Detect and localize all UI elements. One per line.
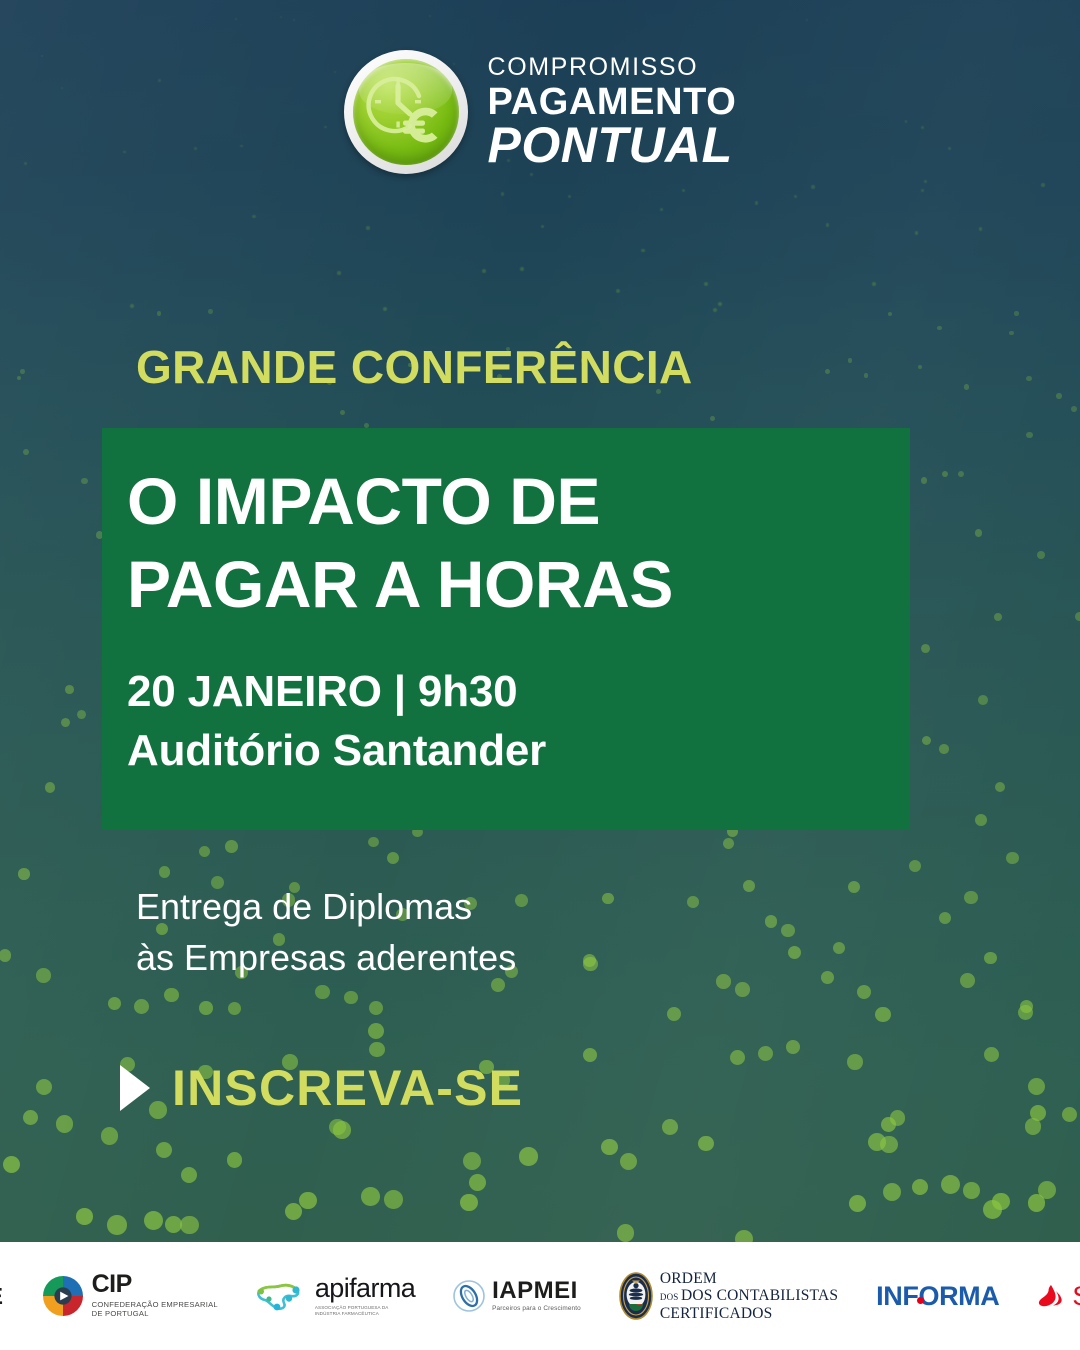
decorative-dot	[1062, 1107, 1077, 1122]
decorative-dot	[77, 710, 86, 719]
decorative-dot	[915, 231, 919, 235]
decorative-dot	[872, 282, 876, 286]
decorative-dot	[36, 968, 51, 983]
decorative-dot	[794, 195, 797, 198]
event-date-time: 20 JANEIRO | 9h30	[127, 665, 517, 719]
decorative-dot	[921, 644, 930, 653]
partner-logo-bar: ACEGE CIP CONFEDERAÇÃO EMPRESARIAL DE PO…	[0, 1242, 1080, 1350]
decorative-dot	[660, 208, 664, 212]
informa-dot-icon	[917, 1297, 924, 1304]
decorative-dot	[826, 223, 830, 227]
decorative-dot	[515, 894, 528, 907]
brand-lockup: COMPROMISSO PAGAMENTO PONTUAL	[0, 50, 1080, 174]
decorative-dot	[939, 744, 949, 754]
brand-line-compromisso: COMPROMISSO	[488, 55, 737, 80]
decorative-dot	[17, 376, 22, 381]
decorative-dot	[620, 1153, 637, 1170]
decorative-dot	[20, 369, 25, 374]
decorative-dot	[833, 942, 845, 954]
decorative-dot	[583, 1048, 597, 1062]
decorative-dot	[921, 189, 924, 192]
decorative-dot	[667, 1007, 681, 1021]
register-cta[interactable]: INSCREVA-SE	[120, 1063, 523, 1113]
decorative-dot	[716, 974, 731, 989]
decorative-dot	[56, 1115, 73, 1132]
decorative-dot	[941, 1175, 960, 1194]
decorative-dot	[299, 1192, 317, 1210]
decorative-dot	[101, 1127, 119, 1145]
partner-occ-line2-text: DOS CONTABILISTAS	[681, 1287, 838, 1304]
register-cta-label: INSCREVA-SE	[172, 1063, 523, 1113]
decorative-dot	[922, 736, 931, 745]
decorative-dot	[698, 1136, 713, 1151]
decorative-dot	[293, 19, 295, 21]
decorative-dot	[788, 946, 801, 959]
event-panel: O IMPACTO DE PAGAR A HORAS 20 JANEIRO | …	[102, 428, 910, 830]
decorative-dot	[285, 1203, 302, 1220]
decorative-dot	[730, 1050, 745, 1065]
decorative-dot	[924, 180, 927, 183]
decorative-dot	[918, 365, 923, 370]
decorative-dot	[1028, 1078, 1045, 1095]
decorative-dot	[366, 226, 369, 229]
partner-occ-line1: ORDEM	[660, 1270, 838, 1288]
decorative-dot	[687, 896, 699, 908]
decorative-dot	[942, 471, 948, 477]
decorative-dot	[710, 416, 715, 421]
decorative-dot	[1056, 393, 1062, 399]
decorative-dot	[921, 477, 927, 483]
decorative-dot	[1018, 1005, 1033, 1020]
decorative-dot	[1037, 551, 1045, 559]
decorative-dot	[1009, 331, 1013, 335]
decorative-dot	[45, 782, 56, 793]
partner-iapmei[interactable]: IAPMEI Parceiros para o Crescimento	[453, 1279, 581, 1312]
badge-face	[353, 59, 459, 165]
brand-line-pontual: PONTUAL	[488, 120, 737, 171]
decorative-dot	[157, 311, 161, 315]
decorative-dot	[23, 1110, 38, 1125]
decorative-dot	[723, 838, 734, 849]
decorative-dot	[429, 15, 431, 17]
partner-occ-name: ORDEM	[660, 1270, 717, 1287]
decorative-dot	[469, 1174, 486, 1191]
decorative-dot	[344, 991, 357, 1004]
decorative-dot	[939, 912, 951, 924]
decorative-dot	[963, 1182, 980, 1199]
partner-cip[interactable]: CIP CONFEDERAÇÃO EMPRESARIAL DE PORTUGAL	[41, 1273, 218, 1319]
decorative-dot	[369, 1001, 383, 1015]
decorative-dot	[848, 881, 860, 893]
decorative-dot	[568, 195, 571, 198]
decorative-dot	[1041, 183, 1044, 186]
decorative-dot	[76, 1208, 93, 1225]
decorative-dot	[883, 1183, 901, 1201]
decorative-dot	[743, 880, 755, 892]
decorative-dot	[713, 308, 717, 312]
decorative-dot	[23, 449, 29, 455]
play-triangle-icon	[120, 1065, 150, 1111]
decorative-dot	[975, 814, 987, 826]
cip-swirl-icon	[41, 1274, 85, 1318]
santander-flame-icon	[1037, 1283, 1065, 1309]
decorative-dot	[602, 893, 613, 904]
decorative-dot	[1038, 1181, 1056, 1199]
decorative-dot	[130, 304, 134, 308]
partner-apifarma-name: apifarma	[315, 1275, 415, 1302]
decorative-dot	[208, 309, 212, 313]
partner-occ-line3-text: CERTIFICADOS	[660, 1305, 773, 1322]
decorative-dot	[383, 307, 388, 312]
decorative-dot	[520, 267, 524, 271]
decorative-dot	[519, 1147, 537, 1165]
decorative-dot	[958, 471, 965, 478]
decorative-dot	[1006, 852, 1019, 865]
decorative-dot	[387, 852, 399, 864]
decorative-dot	[1030, 1105, 1046, 1121]
decorative-dot	[1026, 376, 1031, 381]
decorative-dot	[786, 1040, 800, 1054]
decorative-dot	[235, 18, 237, 20]
decorative-dot	[368, 1023, 384, 1039]
partner-santander-name: Santander	[1072, 1283, 1080, 1310]
decorative-dot	[641, 249, 645, 253]
decorative-dot	[978, 695, 988, 705]
partner-occ-line3: CERTIFICADOS	[660, 1305, 838, 1323]
decorative-dot	[735, 1230, 753, 1242]
decorative-dot	[909, 860, 921, 872]
decorative-dot	[849, 1195, 866, 1212]
decorative-dot	[1026, 432, 1032, 438]
decorative-dot	[1014, 311, 1018, 315]
apifarma-molecule-icon	[256, 1280, 308, 1312]
decorative-dot	[983, 1200, 1002, 1219]
brand-badge	[344, 50, 468, 174]
decorative-dot	[368, 837, 378, 847]
partner-informa-text: INFORMA	[876, 1281, 999, 1311]
decorative-dot	[541, 225, 544, 228]
partner-acege-name: ACEGE	[0, 1285, 3, 1308]
partner-iapmei-subtitle: Parceiros para o Crescimento	[492, 1306, 581, 1312]
decorative-dot	[482, 269, 486, 273]
partner-santander[interactable]: Santander	[1037, 1283, 1080, 1310]
clock-euro-icon	[353, 59, 459, 165]
decorative-dot	[617, 1224, 634, 1241]
decorative-dot	[857, 985, 871, 999]
decorative-dot	[601, 1139, 617, 1155]
decorative-dot	[758, 1046, 774, 1062]
decorative-dot	[460, 1194, 477, 1211]
decorative-dot	[848, 358, 853, 363]
decorative-dot	[199, 846, 210, 857]
decorative-dot	[765, 915, 777, 927]
decorative-dot	[61, 718, 70, 727]
poster: COMPROMISSO PAGAMENTO PONTUAL GRANDE CON…	[0, 0, 1080, 1350]
decorative-dot	[888, 312, 893, 317]
decorative-dot	[881, 1117, 896, 1132]
decorative-dot	[165, 1216, 182, 1233]
decorative-dot	[781, 924, 794, 937]
decorative-dot	[616, 289, 620, 293]
decorative-dot	[984, 952, 997, 965]
decorative-dot	[252, 215, 256, 219]
event-title: O IMPACTO DE PAGAR A HORAS	[127, 460, 673, 626]
decorative-dot	[735, 982, 750, 997]
decorative-dot	[36, 1079, 52, 1095]
decorative-dot	[880, 1136, 898, 1154]
decorative-dot	[912, 1179, 929, 1196]
partner-cip-subtitle: CONFEDERAÇÃO EMPRESARIAL DE PORTUGAL	[92, 1300, 218, 1320]
decorative-dot	[1071, 406, 1077, 412]
decorative-dot	[81, 478, 88, 485]
decorative-dot	[463, 1152, 481, 1170]
decorative-dot	[3, 1156, 20, 1173]
decorative-dot	[718, 302, 722, 306]
decorative-dot	[228, 1002, 241, 1015]
decorative-dot	[18, 868, 29, 879]
brand-wordmark: COMPROMISSO PAGAMENTO PONTUAL	[488, 53, 737, 172]
decorative-dot	[144, 1211, 164, 1231]
decorative-dot	[984, 1047, 999, 1062]
decorative-dot	[180, 1216, 198, 1234]
decorative-dot	[960, 973, 975, 988]
partner-iapmei-name: IAPMEI	[492, 1279, 581, 1303]
decorative-dot	[995, 782, 1005, 792]
decorative-dot	[937, 326, 941, 330]
decorative-dot	[583, 954, 596, 967]
decorative-dot	[821, 971, 834, 984]
decorative-dot	[811, 185, 814, 188]
event-eyebrow: GRANDE CONFERÊNCIA	[136, 344, 693, 390]
decorative-dot	[65, 685, 74, 694]
event-subtext: Entrega de Diplomas às Empresas aderente…	[136, 881, 516, 983]
decorative-dot	[164, 988, 178, 1002]
decorative-dot	[337, 271, 341, 275]
partner-informa[interactable]: INFORMA	[876, 1283, 999, 1310]
decorative-dot	[315, 985, 329, 999]
decorative-dot	[361, 1187, 380, 1206]
decorative-dot	[384, 1190, 403, 1209]
decorative-dot	[704, 282, 708, 286]
decorative-dot	[964, 891, 977, 904]
decorative-dot	[1075, 612, 1080, 621]
decorative-dot	[159, 866, 171, 878]
decorative-dot	[806, 19, 808, 21]
decorative-dot	[225, 840, 238, 853]
partner-apifarma-subtitle: ASSOCIAÇÃO PORTUGUESA DA INDÚSTRIA FARMA…	[315, 1305, 415, 1317]
decorative-dot	[964, 384, 969, 389]
decorative-dot	[369, 1042, 385, 1058]
decorative-dot	[979, 227, 983, 231]
partner-acege[interactable]: ACEGE	[0, 1283, 3, 1309]
decorative-dot	[875, 1007, 891, 1023]
decorative-dot	[825, 369, 830, 374]
partner-occ[interactable]: ORDEM DOS DOS CONTABILISTAS CERTIFICADOS	[619, 1270, 838, 1323]
iapmei-ellipse-icon	[453, 1280, 485, 1312]
decorative-dot	[340, 410, 345, 415]
decorative-dot	[847, 1054, 863, 1070]
partner-cip-name: CIP	[92, 1273, 218, 1297]
decorative-dot	[280, 16, 282, 18]
decorative-dot	[975, 529, 982, 536]
decorative-dot	[108, 997, 121, 1010]
decorative-dot	[333, 1121, 351, 1139]
decorative-dot	[199, 1001, 212, 1014]
decorative-dot	[0, 949, 11, 961]
decorative-dot	[227, 1152, 243, 1168]
decorative-dot	[994, 613, 1002, 621]
decorative-dot	[755, 201, 758, 204]
partner-apifarma[interactable]: apifarma ASSOCIAÇÃO PORTUGUESA DA INDÚST…	[256, 1275, 415, 1317]
decorative-dot	[181, 1167, 197, 1183]
decorative-dot	[662, 1119, 678, 1135]
decorative-dot	[107, 1215, 127, 1235]
decorative-dot	[134, 999, 149, 1014]
partner-occ-line2: DOS DOS CONTABILISTAS	[660, 1287, 838, 1305]
decorative-dot	[864, 373, 869, 378]
decorative-dot	[682, 189, 685, 192]
decorative-dot	[501, 192, 504, 195]
occ-seal-icon	[619, 1272, 653, 1320]
partner-informa-name: INFORMA	[876, 1283, 999, 1310]
event-venue: Auditório Santander	[127, 724, 546, 778]
decorative-dot	[156, 1142, 172, 1158]
